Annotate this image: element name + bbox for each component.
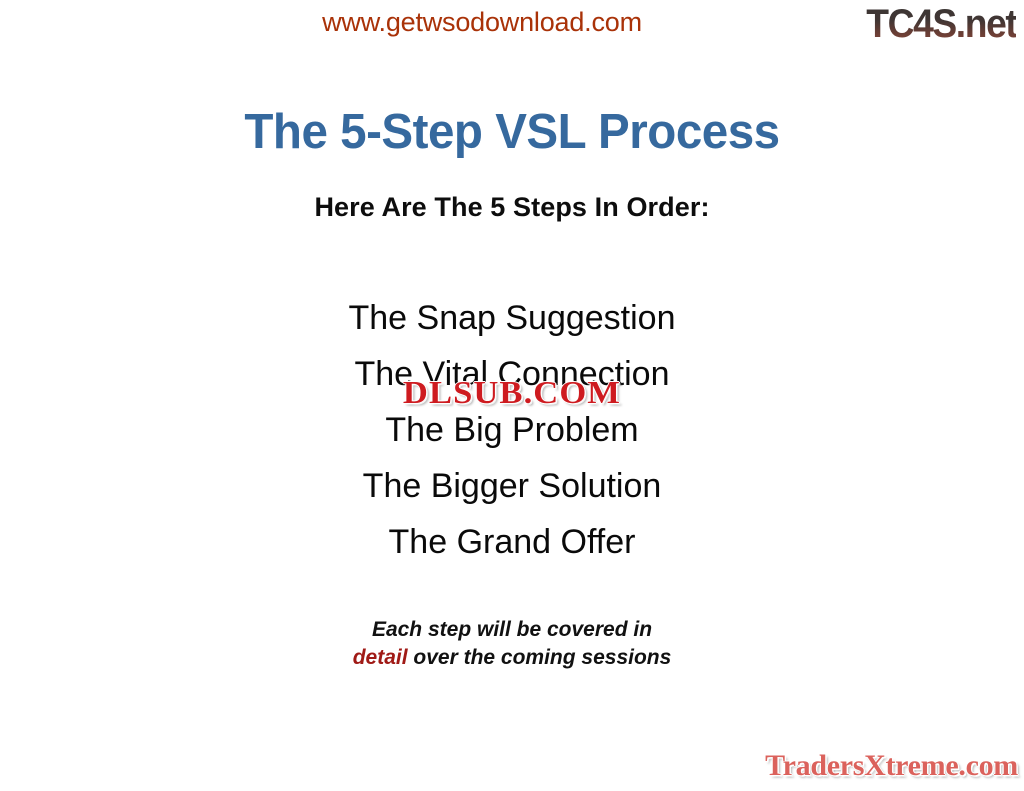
footer-note-highlight: detail <box>353 646 408 669</box>
steps-list: The Snap Suggestion The Vital Connection… <box>0 290 1024 570</box>
list-item: The Big Problem <box>0 402 1024 458</box>
list-item: The Snap Suggestion <box>0 290 1024 346</box>
tc4s-brand-logo: TC4S.net <box>866 2 1016 46</box>
list-item: The Grand Offer <box>0 514 1024 570</box>
list-item: The Bigger Solution <box>0 458 1024 514</box>
page-title: The 5-Step VSL Process <box>15 103 1008 161</box>
footer-note-line-1: Each step will be covered in <box>0 616 1024 644</box>
slide-canvas: { "header": { "source_url": "www.getwsod… <box>0 0 1024 791</box>
slide-subtitle: Here Are The 5 Steps In Order: <box>0 190 1024 224</box>
footer-note-rest: over the coming sessions <box>408 646 672 669</box>
tradersxtreme-watermark: TradersXtreme.com <box>765 749 1018 783</box>
footer-note: Each step will be covered in detail over… <box>0 616 1024 672</box>
footer-note-line-2: detail over the coming sessions <box>0 644 1024 672</box>
list-item: The Vital Connection <box>0 346 1024 402</box>
